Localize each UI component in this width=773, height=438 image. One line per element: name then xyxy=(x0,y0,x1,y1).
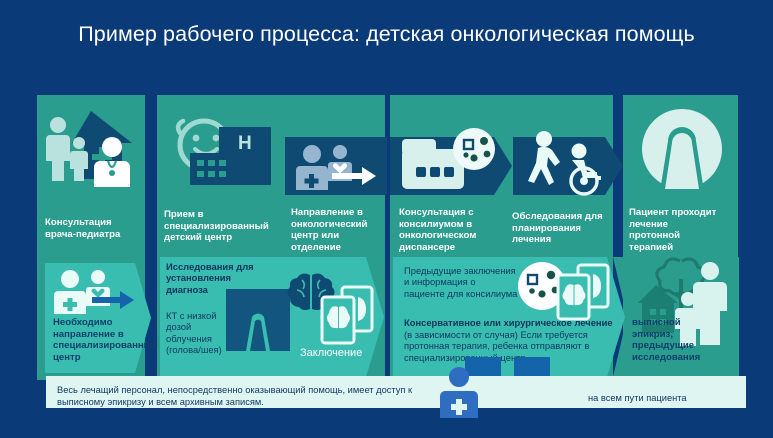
substep4-scan-cards-icon xyxy=(556,265,610,323)
step5-wheelchair-assist-icon xyxy=(527,129,617,197)
step4-medical-board-icon xyxy=(400,127,500,193)
slide-root: Пример рабочего процесса: детская онколо… xyxy=(0,0,773,438)
banner-main-text: Весь лечащий персонал, непосредственно о… xyxy=(57,384,417,408)
step2-label: Прием вспециализированныйдетский центр xyxy=(164,209,286,244)
step3-label: Направление вонкологическийцентр илиотде… xyxy=(291,207,386,253)
step5-label: Обследования дляпланированиялечения xyxy=(512,211,616,246)
substep2-scan-cards-icon xyxy=(320,287,376,349)
step1-label: Консультацияврача-педиатра xyxy=(45,217,145,240)
step6-proton-gantry-icon xyxy=(636,109,728,195)
svg-text:H: H xyxy=(238,133,252,154)
substep1-doctor-patient-arrow-icon xyxy=(54,269,140,315)
substep2-label-2: Заключение xyxy=(300,347,390,359)
step3-referral-arrow-icon xyxy=(296,143,381,191)
banner-end-text: на всем пути пациента xyxy=(588,392,758,404)
step1-icon-group xyxy=(44,103,142,188)
step4-label: Консультация сконсилиумом вонкологическо… xyxy=(399,207,507,253)
workflow-diagram: H xyxy=(0,95,773,390)
step6-label: Пациент проходитлечениепротоннойтерапией xyxy=(629,207,737,253)
substep1-label: Необходимонаправление вспециализированны… xyxy=(53,317,149,363)
substep2-ct-scanner-icon xyxy=(226,289,290,351)
substep6-label: выписнойэпикриз,предыдущиеисследования xyxy=(632,317,728,363)
substep4-heading-2: Консервативное или хирургическое лечение xyxy=(404,317,614,328)
banner-patient-plus-icon xyxy=(437,366,481,418)
substep4-label-2: (в зависимости от случая) Если требуется… xyxy=(404,329,612,363)
step2-icon-group: H xyxy=(162,105,280,187)
page-title: Пример рабочего процесса: детская онколо… xyxy=(0,22,773,47)
